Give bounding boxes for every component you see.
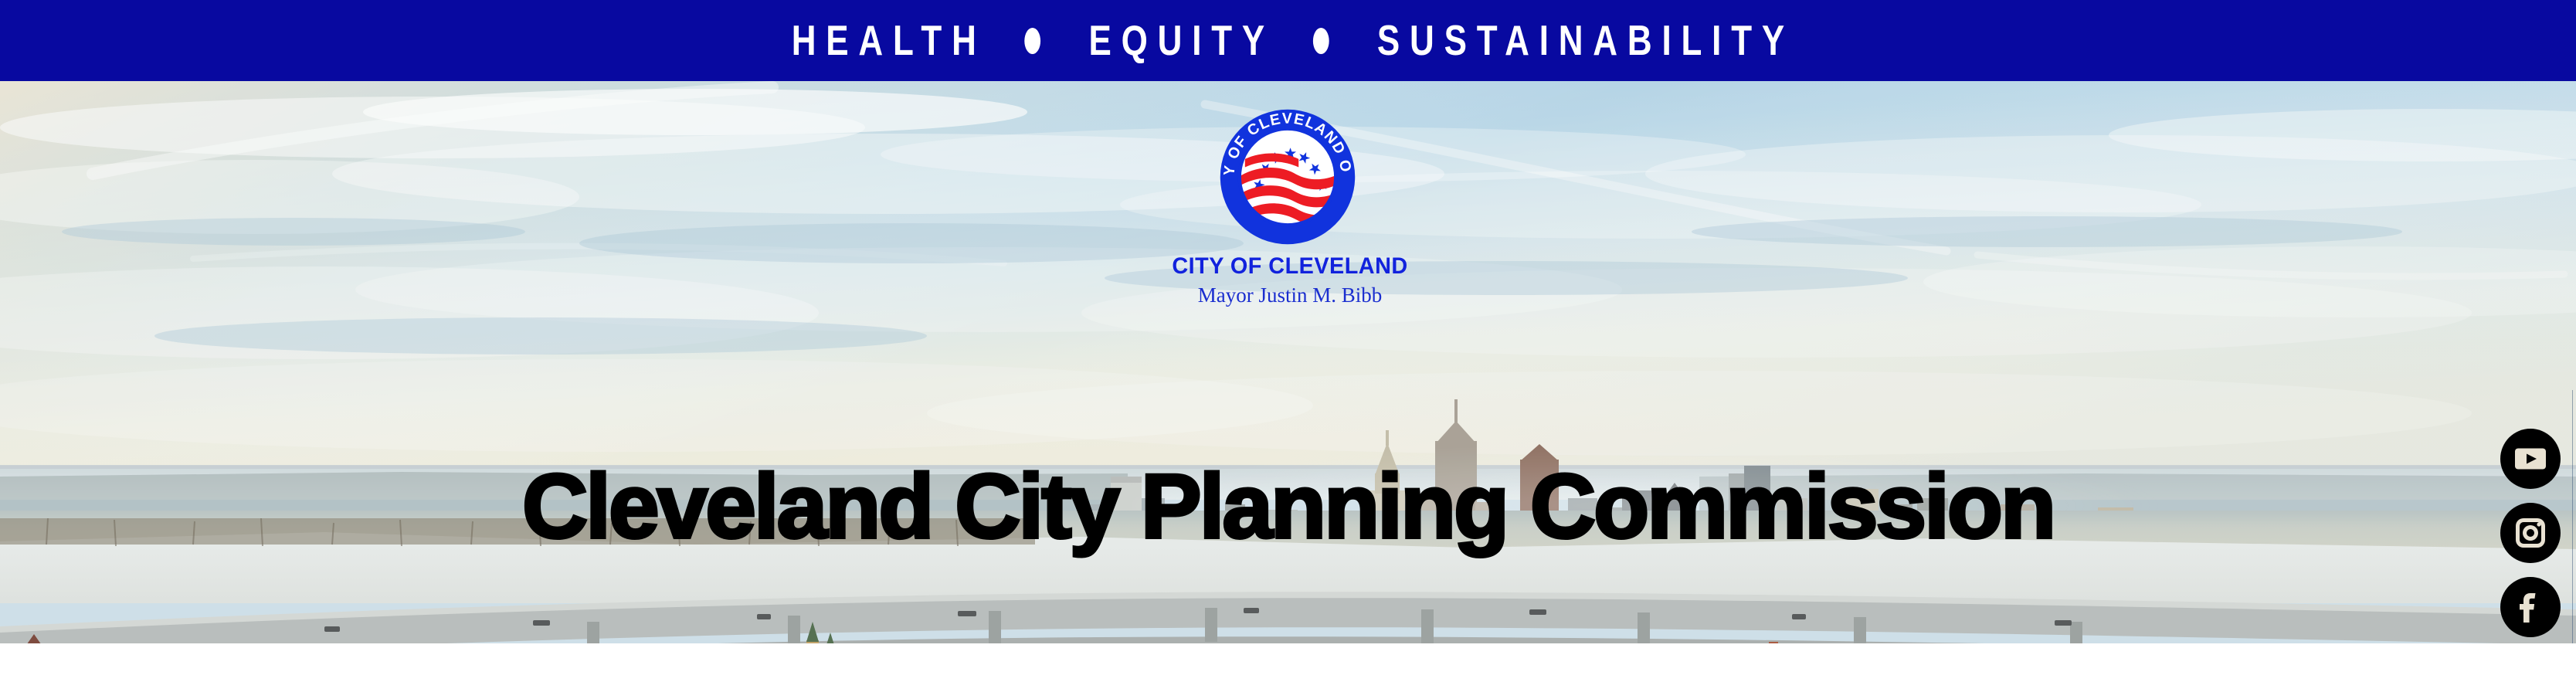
slogan-word-sustainability: SUSTAINABILITY xyxy=(1367,19,1794,62)
facebook-link[interactable] xyxy=(2500,577,2561,637)
slogan-separator-dot-2 xyxy=(1313,28,1329,54)
mayor-name-label: Mayor Justin M. Bibb xyxy=(896,285,1684,306)
youtube-icon xyxy=(2510,439,2551,479)
seal-caption: CITY OF CLEVELAND Mayor Justin M. Bibb xyxy=(896,255,1684,306)
instagram-icon xyxy=(2510,513,2551,553)
facebook-icon xyxy=(2510,587,2551,627)
slogan-banner: HEALTH EQUITY SUSTAINABILITY xyxy=(0,0,2576,81)
youtube-link[interactable] xyxy=(2500,429,2561,489)
instagram-link[interactable] xyxy=(2500,503,2561,563)
photo-edge-divider xyxy=(2572,390,2573,643)
slogan-banner-inner: HEALTH EQUITY SUSTAINABILITY xyxy=(782,19,1794,62)
slogan-word-health: HEALTH xyxy=(782,19,986,62)
social-links xyxy=(2500,429,2561,637)
seal-artwork: CITY OF CLEVELAND OHIO xyxy=(1219,108,1356,246)
page-title: Cleveland City Planning Commission xyxy=(0,461,2576,552)
page-root: HEALTH EQUITY SUSTAINABILITY xyxy=(0,0,2576,682)
city-name-label: CITY OF CLEVELAND xyxy=(911,255,1668,278)
slogan-word-equity: EQUITY xyxy=(1079,19,1274,62)
slogan-separator-dot-1 xyxy=(1024,28,1040,54)
cleveland-city-seal-icon: CITY OF CLEVELAND OHIO xyxy=(1219,108,1356,246)
